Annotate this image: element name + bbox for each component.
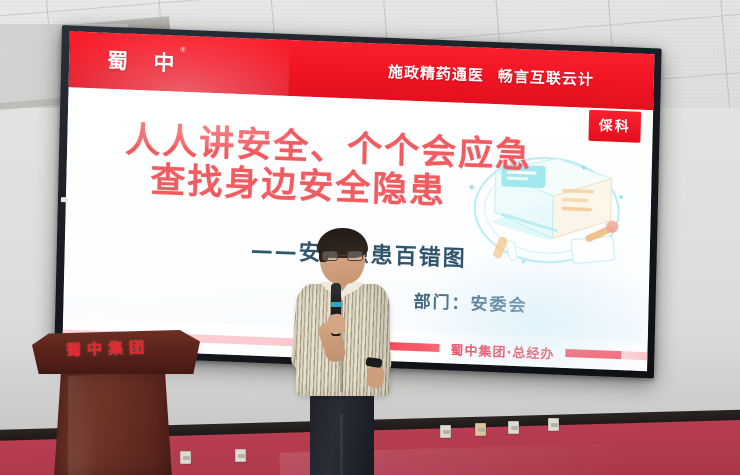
slogan-left: 施政精药通医: [388, 63, 484, 85]
slide-header-slogan: 施政精药通医畅言互联云计: [388, 61, 594, 90]
podium-top: 蜀中集团: [32, 330, 200, 374]
footer-block-right: [565, 349, 621, 359]
kehao-badge: 倸科: [588, 110, 641, 143]
wall-outlet: [235, 449, 246, 462]
wall-outlet: [440, 425, 451, 438]
slogan-right: 畅言互联云计: [498, 67, 594, 89]
speaker: [284, 226, 402, 475]
slide-title-block: 人人讲安全、个个会应急 查找身边安全隐患: [124, 122, 596, 219]
wall-outlet: [508, 421, 519, 434]
podium: 蜀中集团: [32, 330, 200, 475]
slide-footer-text: 蜀中集团·总经办: [439, 339, 565, 363]
shuzhong-logo: 蜀 中: [107, 45, 184, 78]
podium-body: [54, 370, 172, 475]
registered-mark-icon: ®: [180, 47, 185, 54]
speaker-trousers: [310, 388, 374, 475]
wall-outlet: [475, 423, 486, 436]
wall-outlet: [548, 418, 559, 431]
presentation-room-scene: 蜀 中 ® 施政精药通医畅言互联云计 倸科: [0, 0, 740, 475]
slide-department-label: 部门：安委会: [413, 287, 528, 316]
eyeglasses-icon: [321, 251, 364, 261]
footer-rule-right: [621, 351, 647, 360]
speaker-right-hand: [366, 365, 385, 389]
podium-label: 蜀中集团: [66, 336, 151, 360]
